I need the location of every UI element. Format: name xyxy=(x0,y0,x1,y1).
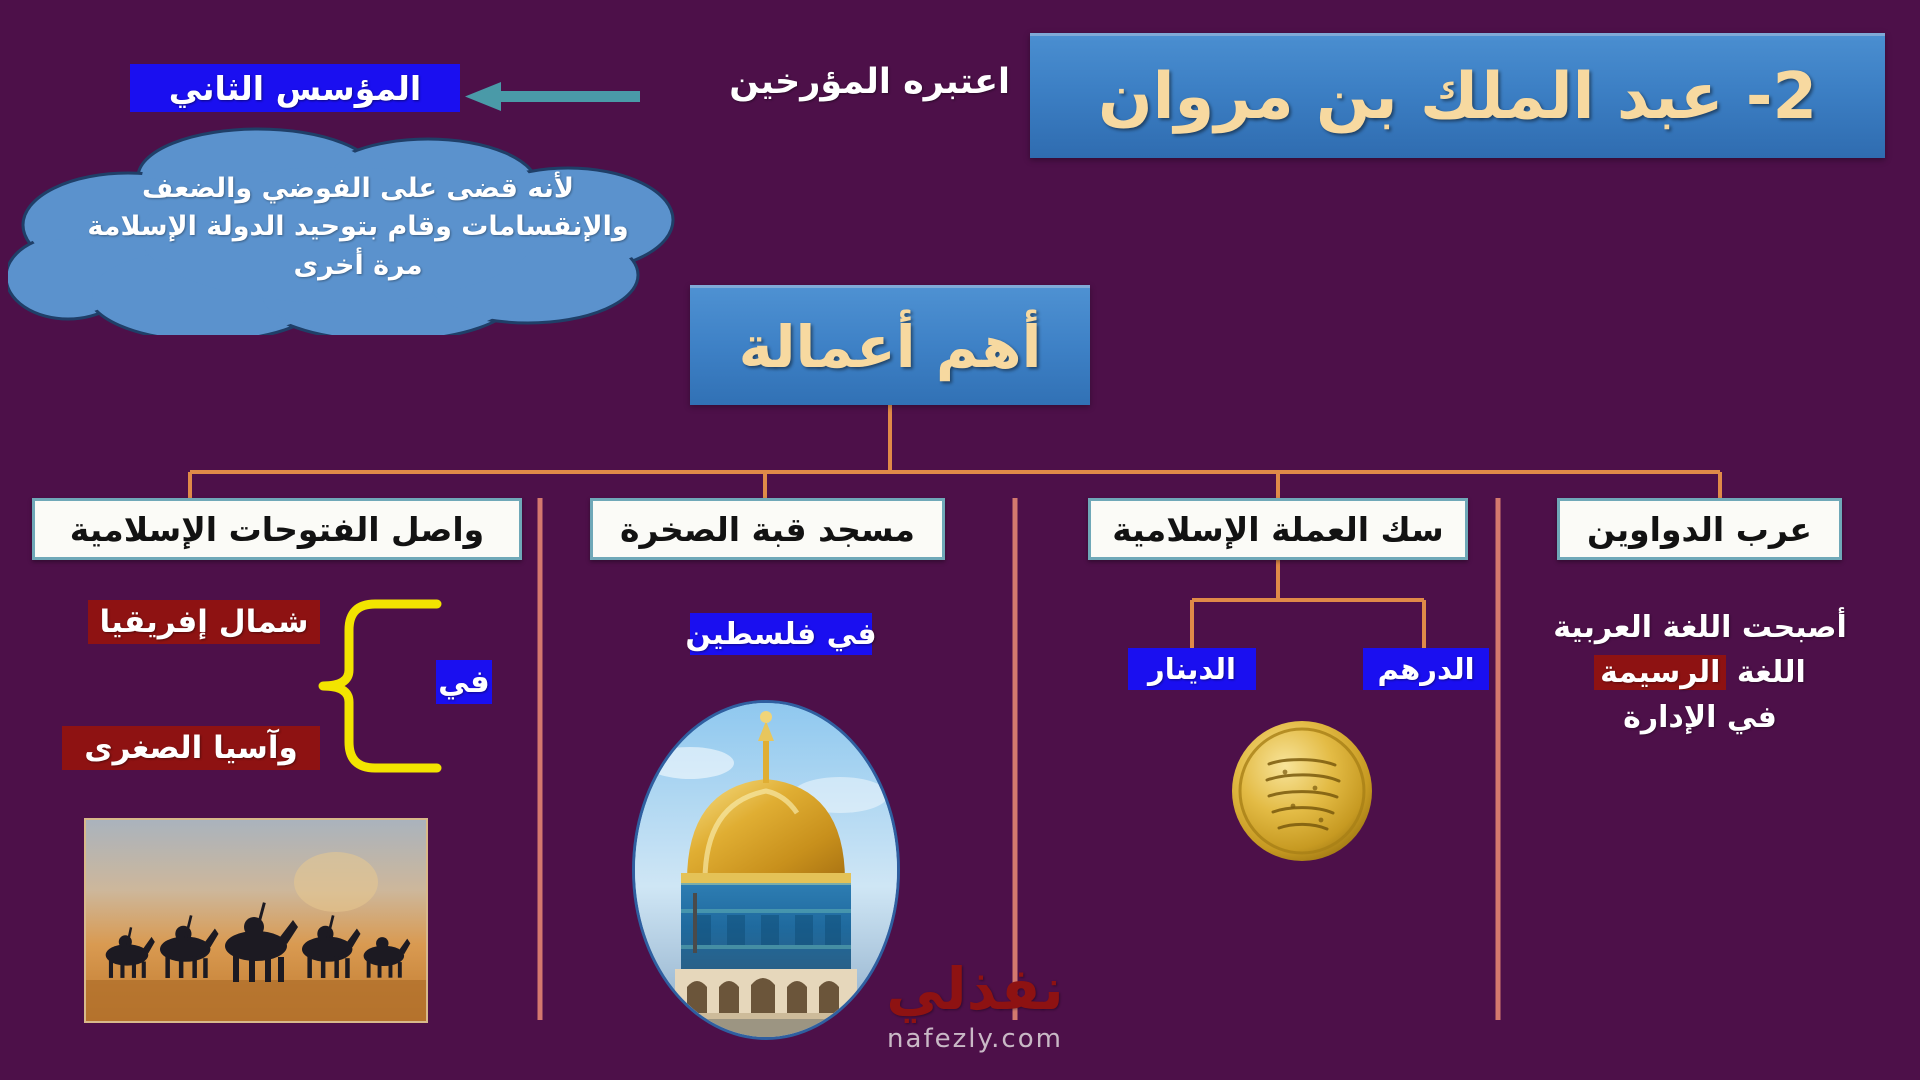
chip-north-africa-text: شمال إفريقيا xyxy=(99,604,308,640)
branch-head-dome-label: مسجد قبة الصخرة xyxy=(620,510,915,549)
watermark: نفذلي nafezly.com xyxy=(845,960,1105,1054)
chip-in-preposition-text: في xyxy=(438,664,490,700)
historians-caption-text: اعتبره المؤرخين xyxy=(729,62,1010,102)
thought-cloud-icon: لأنه قضى على الفوضي والضعف والإنقسامات و… xyxy=(8,125,698,335)
chip-dinar-text: الدينار xyxy=(1148,652,1236,686)
chip-asia-minor-text: وآسيا الصغرى xyxy=(84,730,297,766)
watermark-domain: nafezly.com xyxy=(845,1024,1105,1054)
branch-head-conquests[interactable]: واصل الفتوحات الإسلامية xyxy=(32,498,522,560)
infographic-canvas: 2- عبد الملك بن مروان اعتبره المؤرخين ال… xyxy=(0,0,1920,1080)
founder-label: المؤسس الثاني xyxy=(130,64,460,112)
chip-north-africa: شمال إفريقيا xyxy=(88,600,320,644)
admin-line-1: أصبحت اللغة العربية xyxy=(1505,605,1895,650)
branch-head-dome-of-the-rock[interactable]: مسجد قبة الصخرة xyxy=(590,498,945,560)
branch-head-islamic-coinage[interactable]: سك العملة الإسلامية xyxy=(1088,498,1468,560)
admin-line-2-highlight: الرسيمة xyxy=(1594,655,1726,690)
admin-line-2-prefix: اللغة xyxy=(1726,655,1805,690)
branch-head-coinage-label: سك العملة الإسلامية xyxy=(1112,510,1443,549)
gold-dinar-coin-photo xyxy=(1229,718,1375,864)
chip-in-palestine-text: في فلسطين xyxy=(685,617,876,652)
chip-dirham-text: الدرهم xyxy=(1377,652,1474,686)
left-arrow-icon xyxy=(465,80,640,114)
historians-caption: اعتبره المؤرخين xyxy=(640,55,1010,109)
branch-head-diwans-label: عرب الدواوين xyxy=(1587,510,1812,549)
admin-line-3: في الإدارة xyxy=(1505,695,1895,740)
page-title-text: 2- عبد الملك بن مروان xyxy=(1098,60,1817,134)
branch-head-arabized-diwans[interactable]: عرب الدواوين xyxy=(1557,498,1842,560)
chip-dirham: الدرهم xyxy=(1363,648,1489,690)
branch-head-conquests-label: واصل الفتوحات الإسلامية xyxy=(70,510,484,549)
main-works-heading: أهم أعمالة xyxy=(690,285,1090,405)
cloud-reason-text: لأنه قضى على الفوضي والضعف والإنقسامات و… xyxy=(78,170,638,285)
yellow-brace-icon xyxy=(315,596,445,776)
founder-label-text: المؤسس الثاني xyxy=(169,69,421,108)
chip-asia-minor: وآسيا الصغرى xyxy=(62,726,320,770)
main-works-heading-text: أهم أعمالة xyxy=(739,313,1042,381)
watermark-arabic: نفذلي xyxy=(845,960,1105,1018)
arabized-administration-text: أصبحت اللغة العربية اللغة الرسيمة في الإ… xyxy=(1505,605,1895,740)
horsemen-cavalry-photo xyxy=(84,818,428,1023)
chip-dinar: الدينار xyxy=(1128,648,1256,690)
admin-line-2: اللغة الرسيمة xyxy=(1505,650,1895,695)
chip-in-palestine: في فلسطين xyxy=(690,613,872,655)
page-title: 2- عبد الملك بن مروان xyxy=(1030,33,1885,158)
